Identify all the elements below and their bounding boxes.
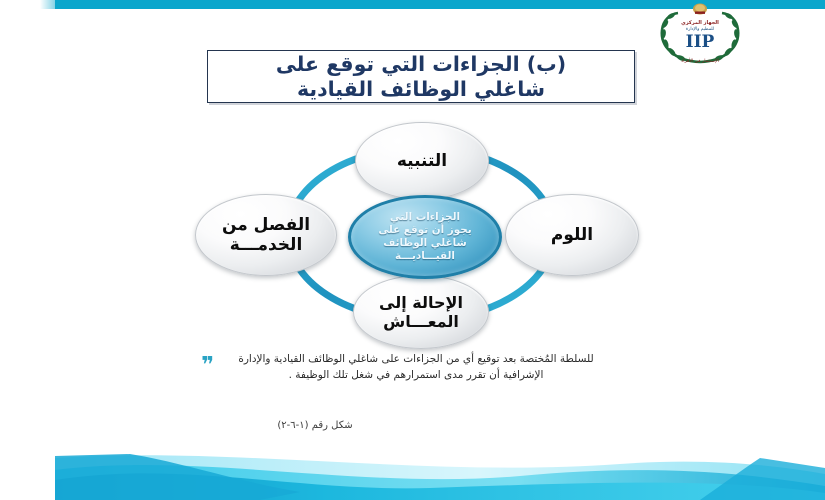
node-right-label: اللوم (551, 225, 593, 245)
page-title: (ب) الجزاءات التي توقع على شاغلي الوظائف… (276, 52, 566, 102)
node-top[interactable]: التنبيه (355, 122, 489, 200)
node-left-label: الفصل من الخدمـــة (222, 215, 310, 256)
figure-caption: شكل رقم (١-٦-٢) (245, 420, 385, 431)
node-bottom[interactable]: الإحالة إلى المعـــاش (353, 275, 489, 349)
logo-arabic-top: الجهاز المركزي (681, 20, 719, 26)
title-box: (ب) الجزاءات التي توقع على شاغلي الوظائف… (207, 50, 635, 103)
bottom-wave-decoration (0, 438, 825, 500)
logo-acronym: IIP (686, 32, 715, 52)
node-bottom-label: الإحالة إلى المعـــاش (379, 293, 463, 331)
logo-arabic-bottom: الإستثمار في الأفراد (681, 57, 719, 64)
node-left[interactable]: الفصل من الخدمـــة (195, 194, 337, 276)
slide-canvas: الجهاز المركزي للتنظيم والإدارة IIP الإس… (0, 0, 825, 500)
footnote-text: للسلطة المُختصة بعد توقيع أي من الجزاءات… (206, 352, 626, 384)
center-node-label: الجزاءات التي يجوز أن توقع على شاغلي الو… (378, 211, 471, 263)
node-right[interactable]: اللوم (505, 194, 639, 276)
eagle-emblem-icon (693, 4, 707, 15)
sanctions-cycle-diagram: التنبيه اللوم الفصل من الخدمـــة الإحالة… (178, 110, 648, 350)
center-node[interactable]: الجزاءات التي يجوز أن توقع على شاغلي الو… (348, 195, 502, 279)
node-top-label: التنبيه (397, 151, 447, 171)
iip-logo: الجهاز المركزي للتنظيم والإدارة IIP الإس… (648, 2, 752, 70)
